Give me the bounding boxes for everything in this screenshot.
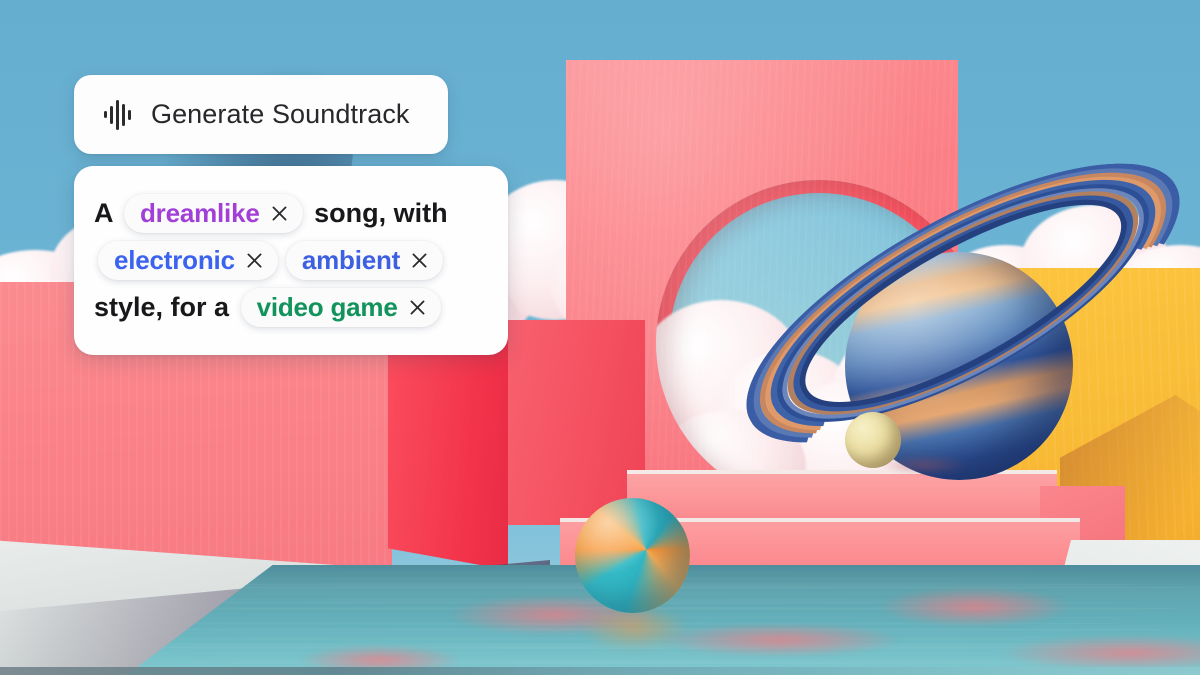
- waveform-bar-1: [104, 111, 107, 118]
- prompt-tag-video-game[interactable]: video game: [241, 288, 441, 327]
- prompt-tag-electronic[interactable]: electronic: [98, 241, 278, 280]
- remove-tag-icon[interactable]: [410, 251, 429, 270]
- prompt-line: A dreamlike song, with: [94, 190, 488, 237]
- remove-tag-icon[interactable]: [270, 204, 289, 223]
- prompt-tag-label: dreamlike: [140, 198, 260, 229]
- remove-tag-icon[interactable]: [245, 251, 264, 270]
- waveform-bar-4: [122, 104, 125, 126]
- prompt-tag-label: electronic: [114, 245, 235, 276]
- ui-overlay: Generate Soundtrack A dreamlike song, wi…: [0, 0, 1200, 675]
- audio-waveform-icon: [104, 100, 131, 130]
- prompt-static-text: song, with: [307, 198, 456, 229]
- prompt-tag-label: video game: [257, 292, 398, 323]
- prompt-tag-ambient[interactable]: ambient: [286, 241, 443, 280]
- remove-tag-icon[interactable]: [408, 298, 427, 317]
- prompt-tag-dreamlike[interactable]: dreamlike: [124, 194, 303, 233]
- prompt-tag-label: ambient: [302, 245, 400, 276]
- prompt-static-text: A: [94, 198, 120, 229]
- waveform-bar-2: [110, 106, 113, 124]
- prompt-static-text: style, for a: [94, 292, 237, 323]
- prompt-line: electronicambient: [94, 237, 488, 284]
- prompt-editor-panel[interactable]: A dreamlike song, with electronicambient…: [74, 166, 508, 355]
- generate-soundtrack-button[interactable]: Generate Soundtrack: [74, 75, 448, 154]
- waveform-bar-5: [128, 110, 131, 120]
- generate-soundtrack-label: Generate Soundtrack: [151, 99, 410, 130]
- prompt-line: style, for a video game: [94, 284, 488, 331]
- waveform-bar-3: [116, 100, 119, 130]
